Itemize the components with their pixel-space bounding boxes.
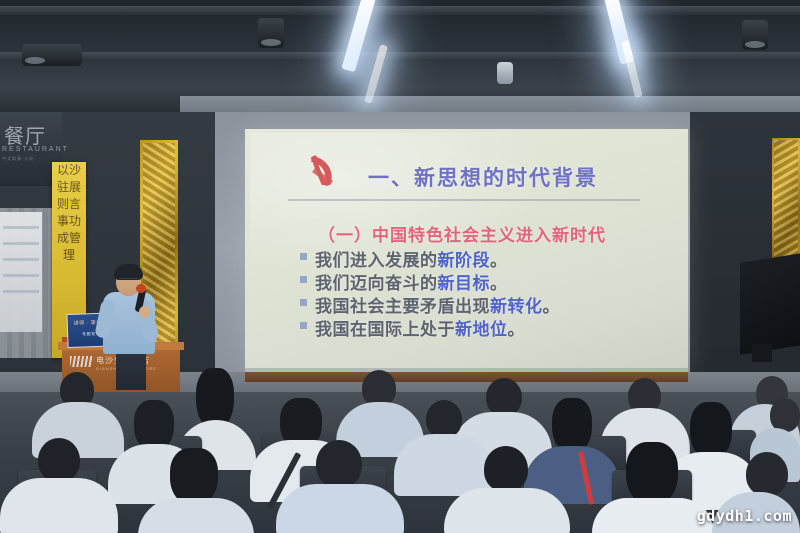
spotlight-fixture (742, 20, 768, 50)
bullet-square-icon (300, 276, 307, 283)
slide-title: 一、新思想的时代背景 (368, 162, 598, 192)
restaurant-sign-sub-text: 中式简餐·小吃 (2, 156, 34, 162)
shoulders (138, 498, 254, 533)
bullet-lead: 我们迈向奋斗的 (315, 274, 438, 293)
list-item: 我们迈向奋斗的新目标。 (300, 269, 650, 292)
head (626, 442, 678, 506)
bullet-highlight: 新目标 (438, 274, 491, 293)
head (746, 452, 788, 496)
bullet-tail: 。 (543, 297, 561, 316)
slide-subtitle: （一）中国特色社会主义进入新时代 (318, 221, 606, 246)
list-item: 我国在国际上处于新地位。 (300, 315, 650, 338)
screenshot-root: 餐厅 RESTAURANT 中式简餐·小吃 以沙驻展则言事功成管理 一、新思想的… (0, 0, 800, 533)
bullet-tail: 。 (490, 251, 508, 270)
spotlight-fixture (258, 18, 284, 48)
bullet-lead: 我们进入发展的 (315, 251, 438, 270)
hammer-and-sickle-icon (303, 150, 343, 190)
restaurant-sign-en-text: RESTAURANT (2, 146, 69, 153)
list-item: 我们进入发展的新阶段。 (300, 246, 650, 269)
slide-bullet-list: 我们进入发展的新阶段。 我们迈向奋斗的新目标。 我国社会主要矛盾出现新转化。 我… (300, 246, 650, 338)
bullet-text: 我们进入发展的新阶段。 (315, 246, 508, 271)
speaker-hand (139, 306, 150, 318)
bullet-tail: 。 (508, 320, 526, 339)
podium-logo-icon (70, 356, 92, 367)
monitor-stand (752, 344, 772, 362)
head (770, 398, 800, 432)
bullet-text: 我们迈向奋斗的新目标。 (315, 269, 508, 294)
microphone-head-icon (136, 284, 146, 293)
shoulders (394, 434, 494, 496)
shoulders (0, 478, 118, 533)
stage-wood-edge (245, 372, 688, 382)
list-item: 我国社会主要矛盾出现新转化。 (300, 292, 650, 315)
calligraphy-banner-text: 以沙驻展则言事功成管理 (52, 162, 86, 264)
shoulders (592, 498, 714, 533)
ceiling-beam (0, 52, 800, 61)
monitor-display (740, 253, 800, 355)
bullet-lead: 我国在国际上处于 (315, 320, 455, 339)
bullet-highlight: 新阶段 (438, 251, 491, 270)
bullet-square-icon (300, 299, 307, 306)
bullet-text: 我国在国际上处于新地位。 (315, 315, 525, 340)
bullet-tail: 。 (490, 274, 508, 293)
sprinkler-head (497, 62, 513, 84)
restaurant-sign-cn-text: 餐厅 (4, 120, 46, 149)
speaker-glasses (119, 278, 138, 284)
ceiling-beam (0, 6, 800, 15)
speaker-lower-body (116, 350, 146, 390)
shoulders (444, 488, 570, 533)
bullet-lead: 我国社会主要矛盾出现 (315, 297, 490, 316)
slide-title-divider (288, 199, 640, 201)
bullet-highlight: 新地位 (455, 320, 508, 339)
wall-poster (0, 212, 42, 332)
head (426, 400, 462, 438)
shoulders (276, 484, 404, 533)
watermark: gdydh1.com (697, 507, 792, 525)
head (486, 378, 522, 416)
head (38, 438, 80, 482)
bullet-text: 我国社会主要矛盾出现新转化。 (315, 292, 560, 317)
head (484, 446, 528, 492)
projector-housing (22, 44, 82, 66)
bullet-square-icon (300, 322, 307, 329)
head (316, 440, 362, 488)
bullet-square-icon (300, 253, 307, 260)
bullet-highlight: 新转化 (490, 297, 543, 316)
